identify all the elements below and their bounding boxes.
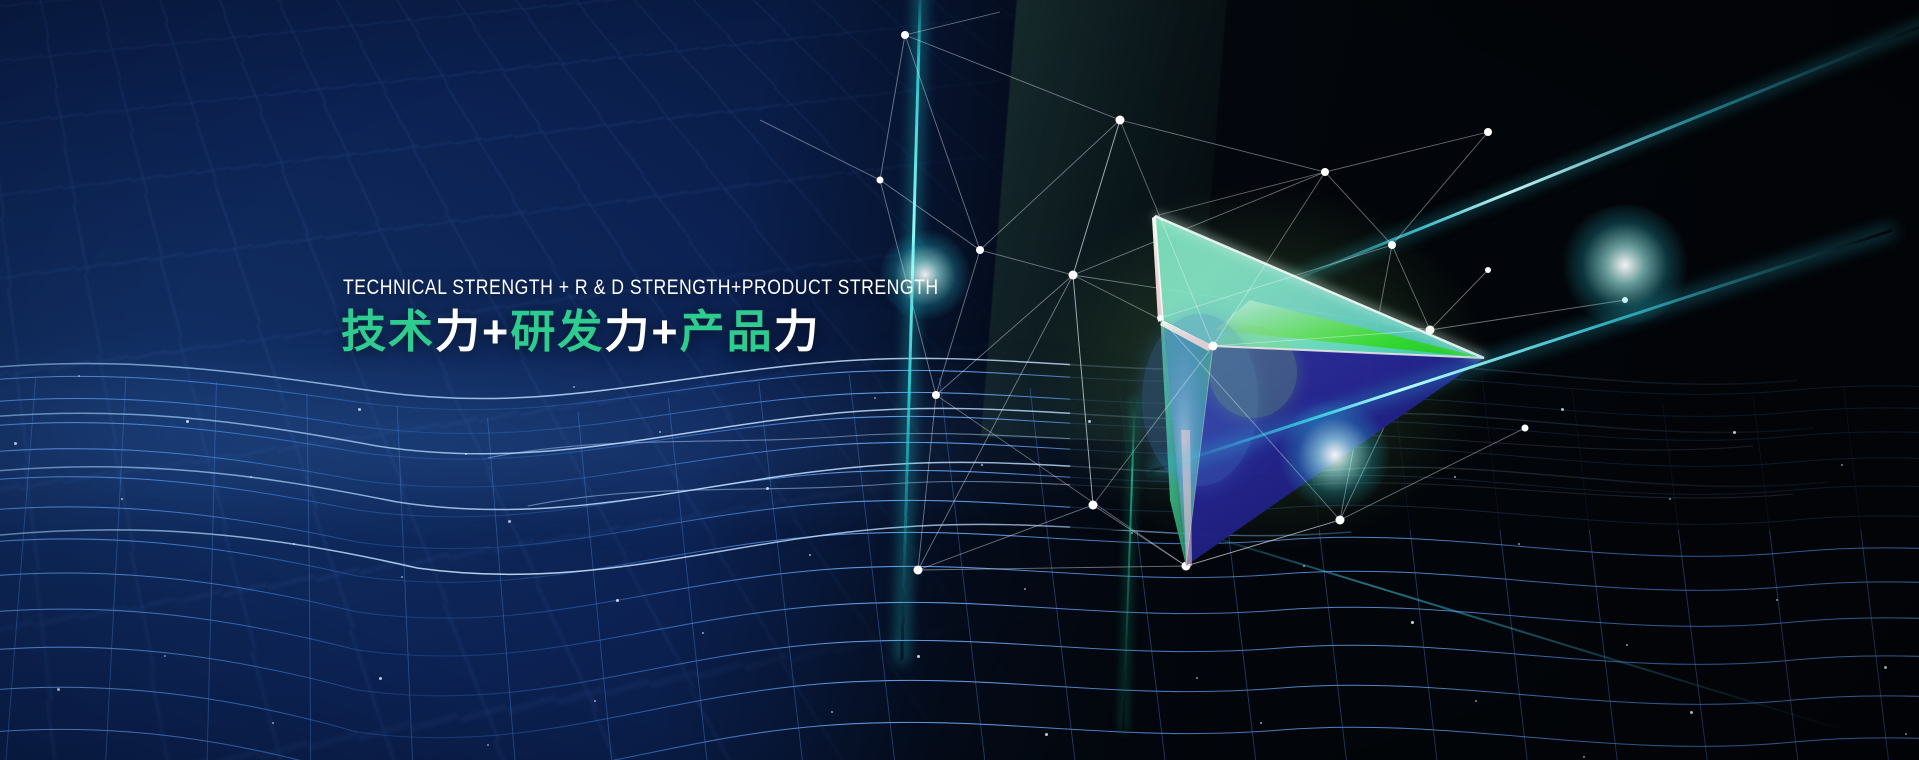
wave-mesh-terrain: [0, 330, 1919, 760]
headline-segment-5: 力: [604, 306, 651, 357]
headline-segment-2: 力: [435, 306, 482, 357]
headline-segment-4: 研发: [510, 306, 604, 357]
banner-headline: 技术力+研发力+产品力: [341, 305, 1052, 358]
headline-segment-8: 力: [774, 306, 821, 357]
mesh-glow: [0, 360, 1919, 520]
headline-segment-3: +: [482, 306, 510, 357]
headline-segment-1: 技术: [341, 306, 435, 357]
hero-banner: TECHNICAL STRENGTH + R & D STRENGTH+PROD…: [0, 0, 1919, 760]
headline-segment-6: +: [651, 306, 679, 357]
banner-eyebrow: TECHNICAL STRENGTH + R & D STRENGTH+PROD…: [343, 276, 939, 299]
headline-segment-7: 产品: [680, 306, 774, 357]
banner-copy: TECHNICAL STRENGTH + R & D STRENGTH+PROD…: [341, 276, 1052, 358]
